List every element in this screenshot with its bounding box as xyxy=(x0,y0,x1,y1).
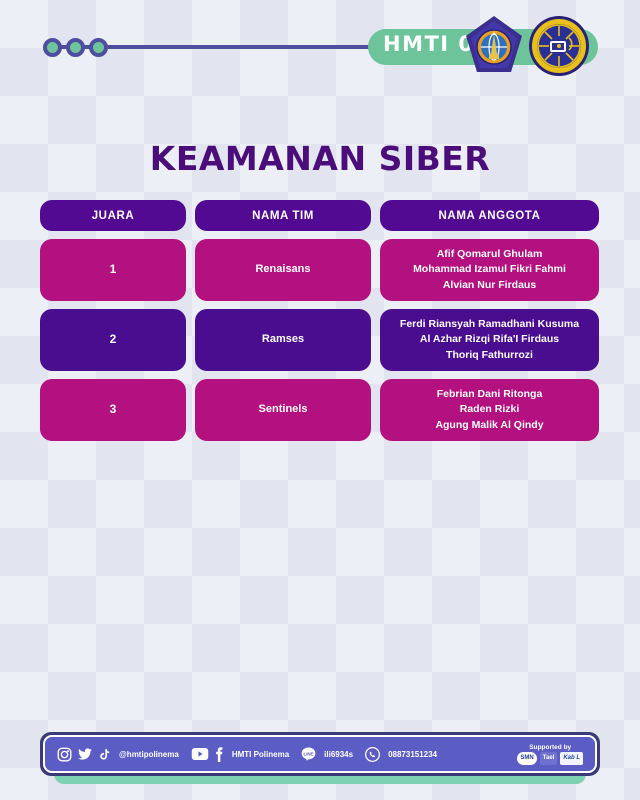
column-header-nama-anggota: NAMA ANGGOTA xyxy=(380,200,599,231)
sponsor-logo: SMN xyxy=(517,752,536,765)
rank-cell: 2 xyxy=(40,309,186,371)
team-name-cell: Renaisans xyxy=(195,239,371,301)
polinema-logo xyxy=(462,14,526,78)
results-table: JUARA NAMA TIM NAMA ANGGOTA 1 Renaisans … xyxy=(0,200,640,449)
instagram-icon[interactable] xyxy=(57,747,72,762)
member-name: Agung Malik Al Qindy xyxy=(435,418,543,433)
header-dot-1 xyxy=(43,38,62,57)
sponsor-logos: SMN Tael Kab L xyxy=(517,752,583,765)
header-dot-2 xyxy=(66,38,85,57)
facebook-icon[interactable] xyxy=(214,747,224,762)
rank-cell: 3 xyxy=(40,379,186,441)
members-cell: Febrian Dani Ritonga Raden Rizki Agung M… xyxy=(380,379,599,441)
tiktok-icon[interactable] xyxy=(98,747,111,762)
whatsapp-number: 08873151234 xyxy=(388,750,437,759)
page-title: KEAMANAN SIBER xyxy=(0,139,640,178)
member-name: Mohammad Izamul Fikri Fahmi xyxy=(413,262,566,277)
supported-by-label: Supported by xyxy=(529,744,571,751)
poster-page: HMTI 09 xyxy=(0,0,640,800)
sponsor-logo: Tael xyxy=(540,752,558,765)
member-name: Afif Qomarul Ghulam xyxy=(413,247,566,262)
table-header-row: JUARA NAMA TIM NAMA ANGGOTA xyxy=(0,200,640,231)
twitter-icon[interactable] xyxy=(77,747,93,762)
members-cell: Ferdi Riansyah Ramadhani Kusuma Al Azhar… xyxy=(380,309,599,371)
sponsor-logo: Kab L xyxy=(560,752,583,765)
table-row: 3 Sentinels Febrian Dani Ritonga Raden R… xyxy=(0,379,640,441)
column-header-juara: JUARA xyxy=(40,200,186,231)
table-row: 1 Renaisans Afif Qomarul Ghulam Mohammad… xyxy=(0,239,640,301)
team-name-cell: Ramses xyxy=(195,309,371,371)
footer: @hmtipolinema HMTI Polinema xyxy=(40,732,600,782)
footer-bar: @hmtipolinema HMTI Polinema xyxy=(43,735,597,773)
youtube-facebook-name: HMTI Polinema xyxy=(232,750,289,759)
svg-text:LINE: LINE xyxy=(304,751,314,756)
member-name: Alvian Nur Firdaus xyxy=(413,278,566,293)
footer-frame: @hmtipolinema HMTI Polinema xyxy=(40,732,600,776)
line-icon[interactable]: LINE xyxy=(301,747,316,761)
supported-by-block: Supported by SMN Tael Kab L xyxy=(517,744,583,765)
header-dot-3 xyxy=(89,38,108,57)
table-row: 2 Ramses Ferdi Riansyah Ramadhani Kusuma… xyxy=(0,309,640,371)
rank-cell: 1 xyxy=(40,239,186,301)
member-name: Al Azhar Rizqi Rifa'I Firdaus xyxy=(400,332,579,347)
member-name: Thoriq Fathurrozi xyxy=(400,348,579,363)
column-header-nama-tim: NAMA TIM xyxy=(195,200,371,231)
member-name: Ferdi Riansyah Ramadhani Kusuma xyxy=(400,317,579,332)
team-name-cell: Sentinels xyxy=(195,379,371,441)
header: HMTI 09 xyxy=(0,0,640,95)
youtube-icon[interactable] xyxy=(191,747,209,761)
member-name: Febrian Dani Ritonga xyxy=(435,387,543,402)
members-cell: Afif Qomarul Ghulam Mohammad Izamul Fikr… xyxy=(380,239,599,301)
line-id: ili6934s xyxy=(324,750,353,759)
social-handle: @hmtipolinema xyxy=(119,750,179,759)
hmti-logo xyxy=(527,14,591,78)
whatsapp-icon[interactable] xyxy=(365,747,380,762)
member-name: Raden Rizki xyxy=(435,402,543,417)
